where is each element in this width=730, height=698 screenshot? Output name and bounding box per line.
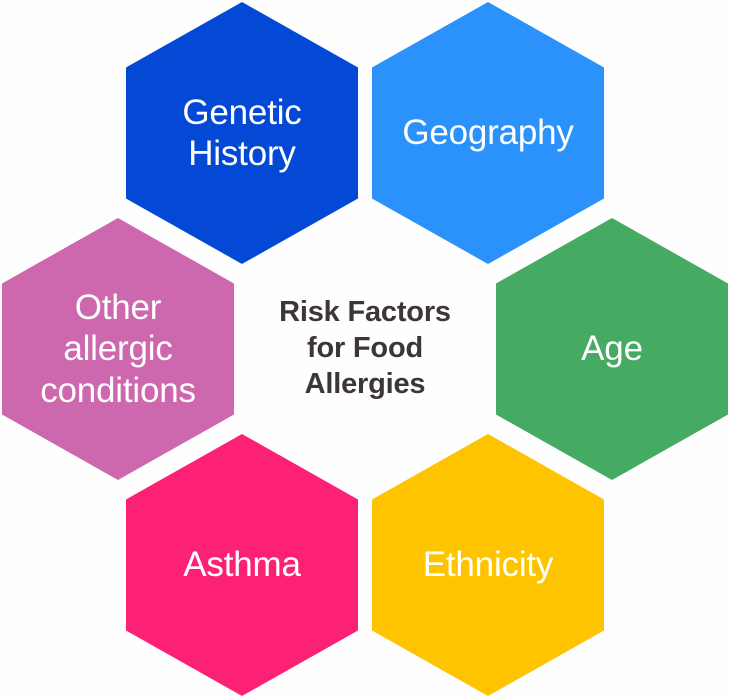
hex-node-age[interactable]: Age [496,218,728,480]
hex-node-other-allergic-conditions[interactable]: Other allergic conditions [2,218,234,480]
diagram-canvas: Genetic History Geography Age Ethnicity … [0,0,730,698]
hex-label-other-allergic-conditions: Other allergic conditions [40,287,196,411]
hex-label-asthma: Asthma [183,544,300,585]
hex-label-ethnicity: Ethnicity [423,544,553,585]
hex-label-geography: Geography [402,112,573,153]
hex-node-geography[interactable]: Geography [372,2,604,264]
hex-label-age: Age [581,328,643,369]
hex-node-ethnicity[interactable]: Ethnicity [372,434,604,696]
hex-node-asthma[interactable]: Asthma [126,434,358,696]
diagram-center-title: Risk Factors for Food Allergies [249,288,481,410]
hex-node-genetic-history[interactable]: Genetic History [126,2,358,264]
hex-label-genetic-history: Genetic History [182,92,301,175]
